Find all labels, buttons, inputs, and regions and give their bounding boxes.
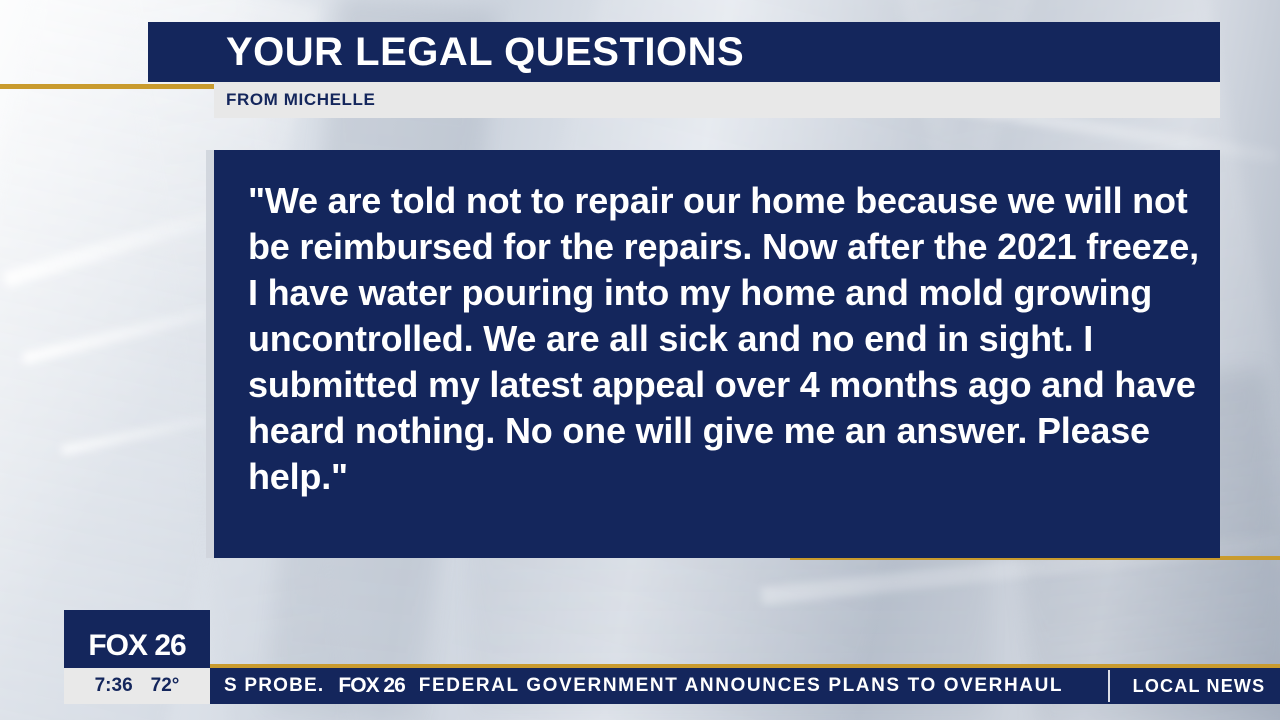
- ticker-category-text: LOCAL NEWS: [1133, 676, 1266, 697]
- clock-temperature-bar: 7:36 72°: [64, 668, 210, 704]
- ticker-headline-text: FEDERAL GOVERNMENT ANNOUNCES PLANS TO OV…: [419, 675, 1063, 697]
- ticker-leading-fragment: S PROBE.: [210, 675, 324, 697]
- ticker-divider: [1108, 670, 1110, 702]
- broadcast-screenshot: YOUR LEGAL QUESTIONS FROM MICHELLE "We a…: [0, 0, 1280, 720]
- quote-text: "We are told not to repair our home beca…: [248, 178, 1204, 500]
- clock-text: 7:36: [95, 675, 133, 697]
- quote-panel-edge: [206, 150, 214, 558]
- ticker-logo-text: FOX 26: [324, 674, 418, 698]
- temperature-text: 72°: [151, 675, 180, 697]
- ticker-category: LOCAL NEWS: [1118, 668, 1280, 704]
- source-banner: FROM MICHELLE: [214, 82, 1220, 118]
- headline-text: YOUR LEGAL QUESTIONS: [148, 32, 744, 72]
- headline-banner: YOUR LEGAL QUESTIONS: [148, 22, 1220, 82]
- station-logo-text: FOX 26: [88, 629, 185, 663]
- gold-accent-rule-left: [0, 84, 214, 89]
- source-text: FROM MICHELLE: [214, 90, 375, 110]
- quote-panel: "We are told not to repair our home beca…: [214, 150, 1220, 558]
